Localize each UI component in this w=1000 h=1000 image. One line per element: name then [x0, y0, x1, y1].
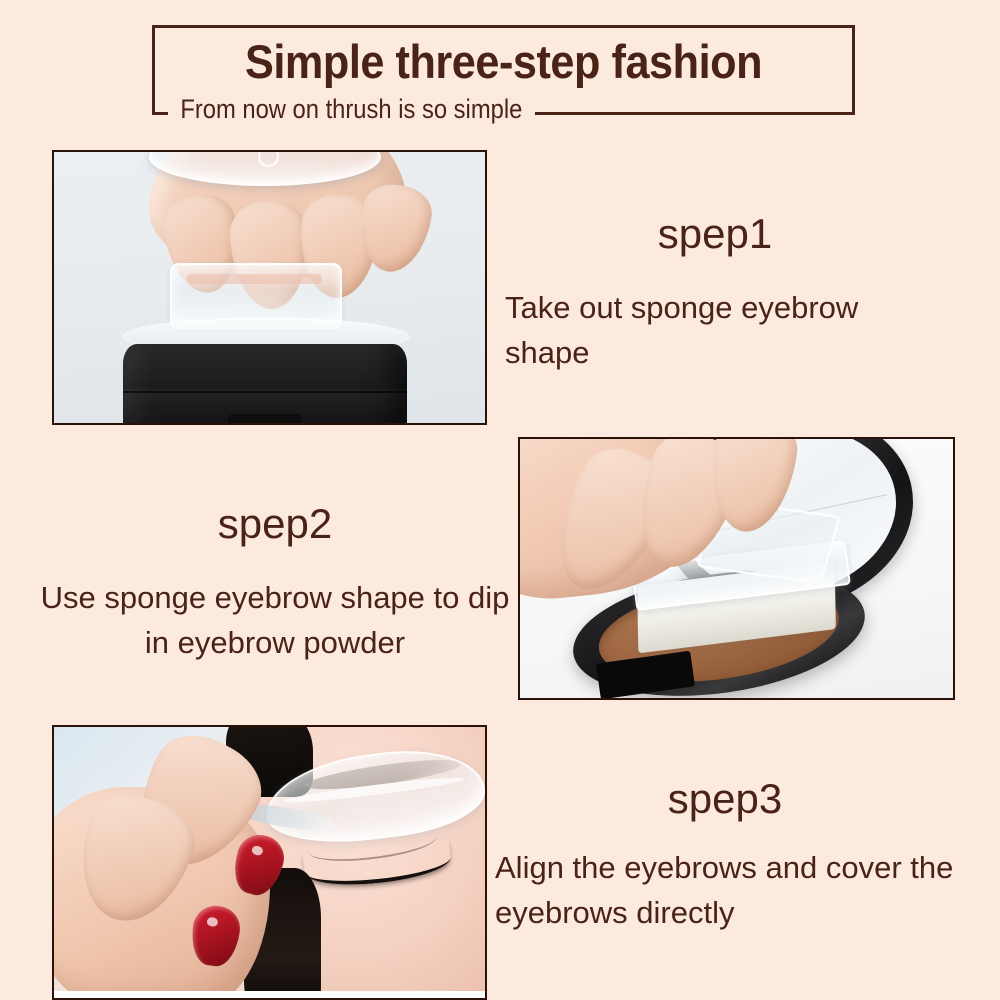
nail-highlight: [206, 917, 218, 928]
step2-photo: [518, 437, 955, 700]
stamp-ridge: [284, 774, 465, 806]
step3-description: Align the eyebrows and cover the eyebrow…: [495, 845, 965, 935]
step2-scene: [520, 439, 953, 698]
step1-scene: [54, 152, 485, 423]
header-banner: Simple three-step fashion: [152, 25, 855, 115]
lid-logo-mark: [258, 150, 279, 167]
nail-highlight: [251, 845, 264, 857]
step1-description: Take out sponge eyebrow shape: [505, 285, 945, 375]
step2-description: Use sponge eyebrow shape to dip in eyebr…: [40, 575, 510, 665]
black-compact-case: [123, 344, 407, 425]
step1-photo: [52, 150, 487, 425]
step1-label: spep1: [505, 210, 925, 258]
page-title: Simple three-step fashion: [183, 34, 824, 89]
step2-label: spep2: [40, 500, 510, 548]
step3-photo: [52, 725, 487, 1000]
case-seam: [123, 391, 407, 393]
stamp-powder-band: [187, 274, 321, 284]
step3-label: spep3: [505, 775, 945, 823]
step3-scene: [54, 727, 485, 998]
photo-bottom-edge: [54, 991, 485, 998]
case-latch: [228, 414, 302, 425]
